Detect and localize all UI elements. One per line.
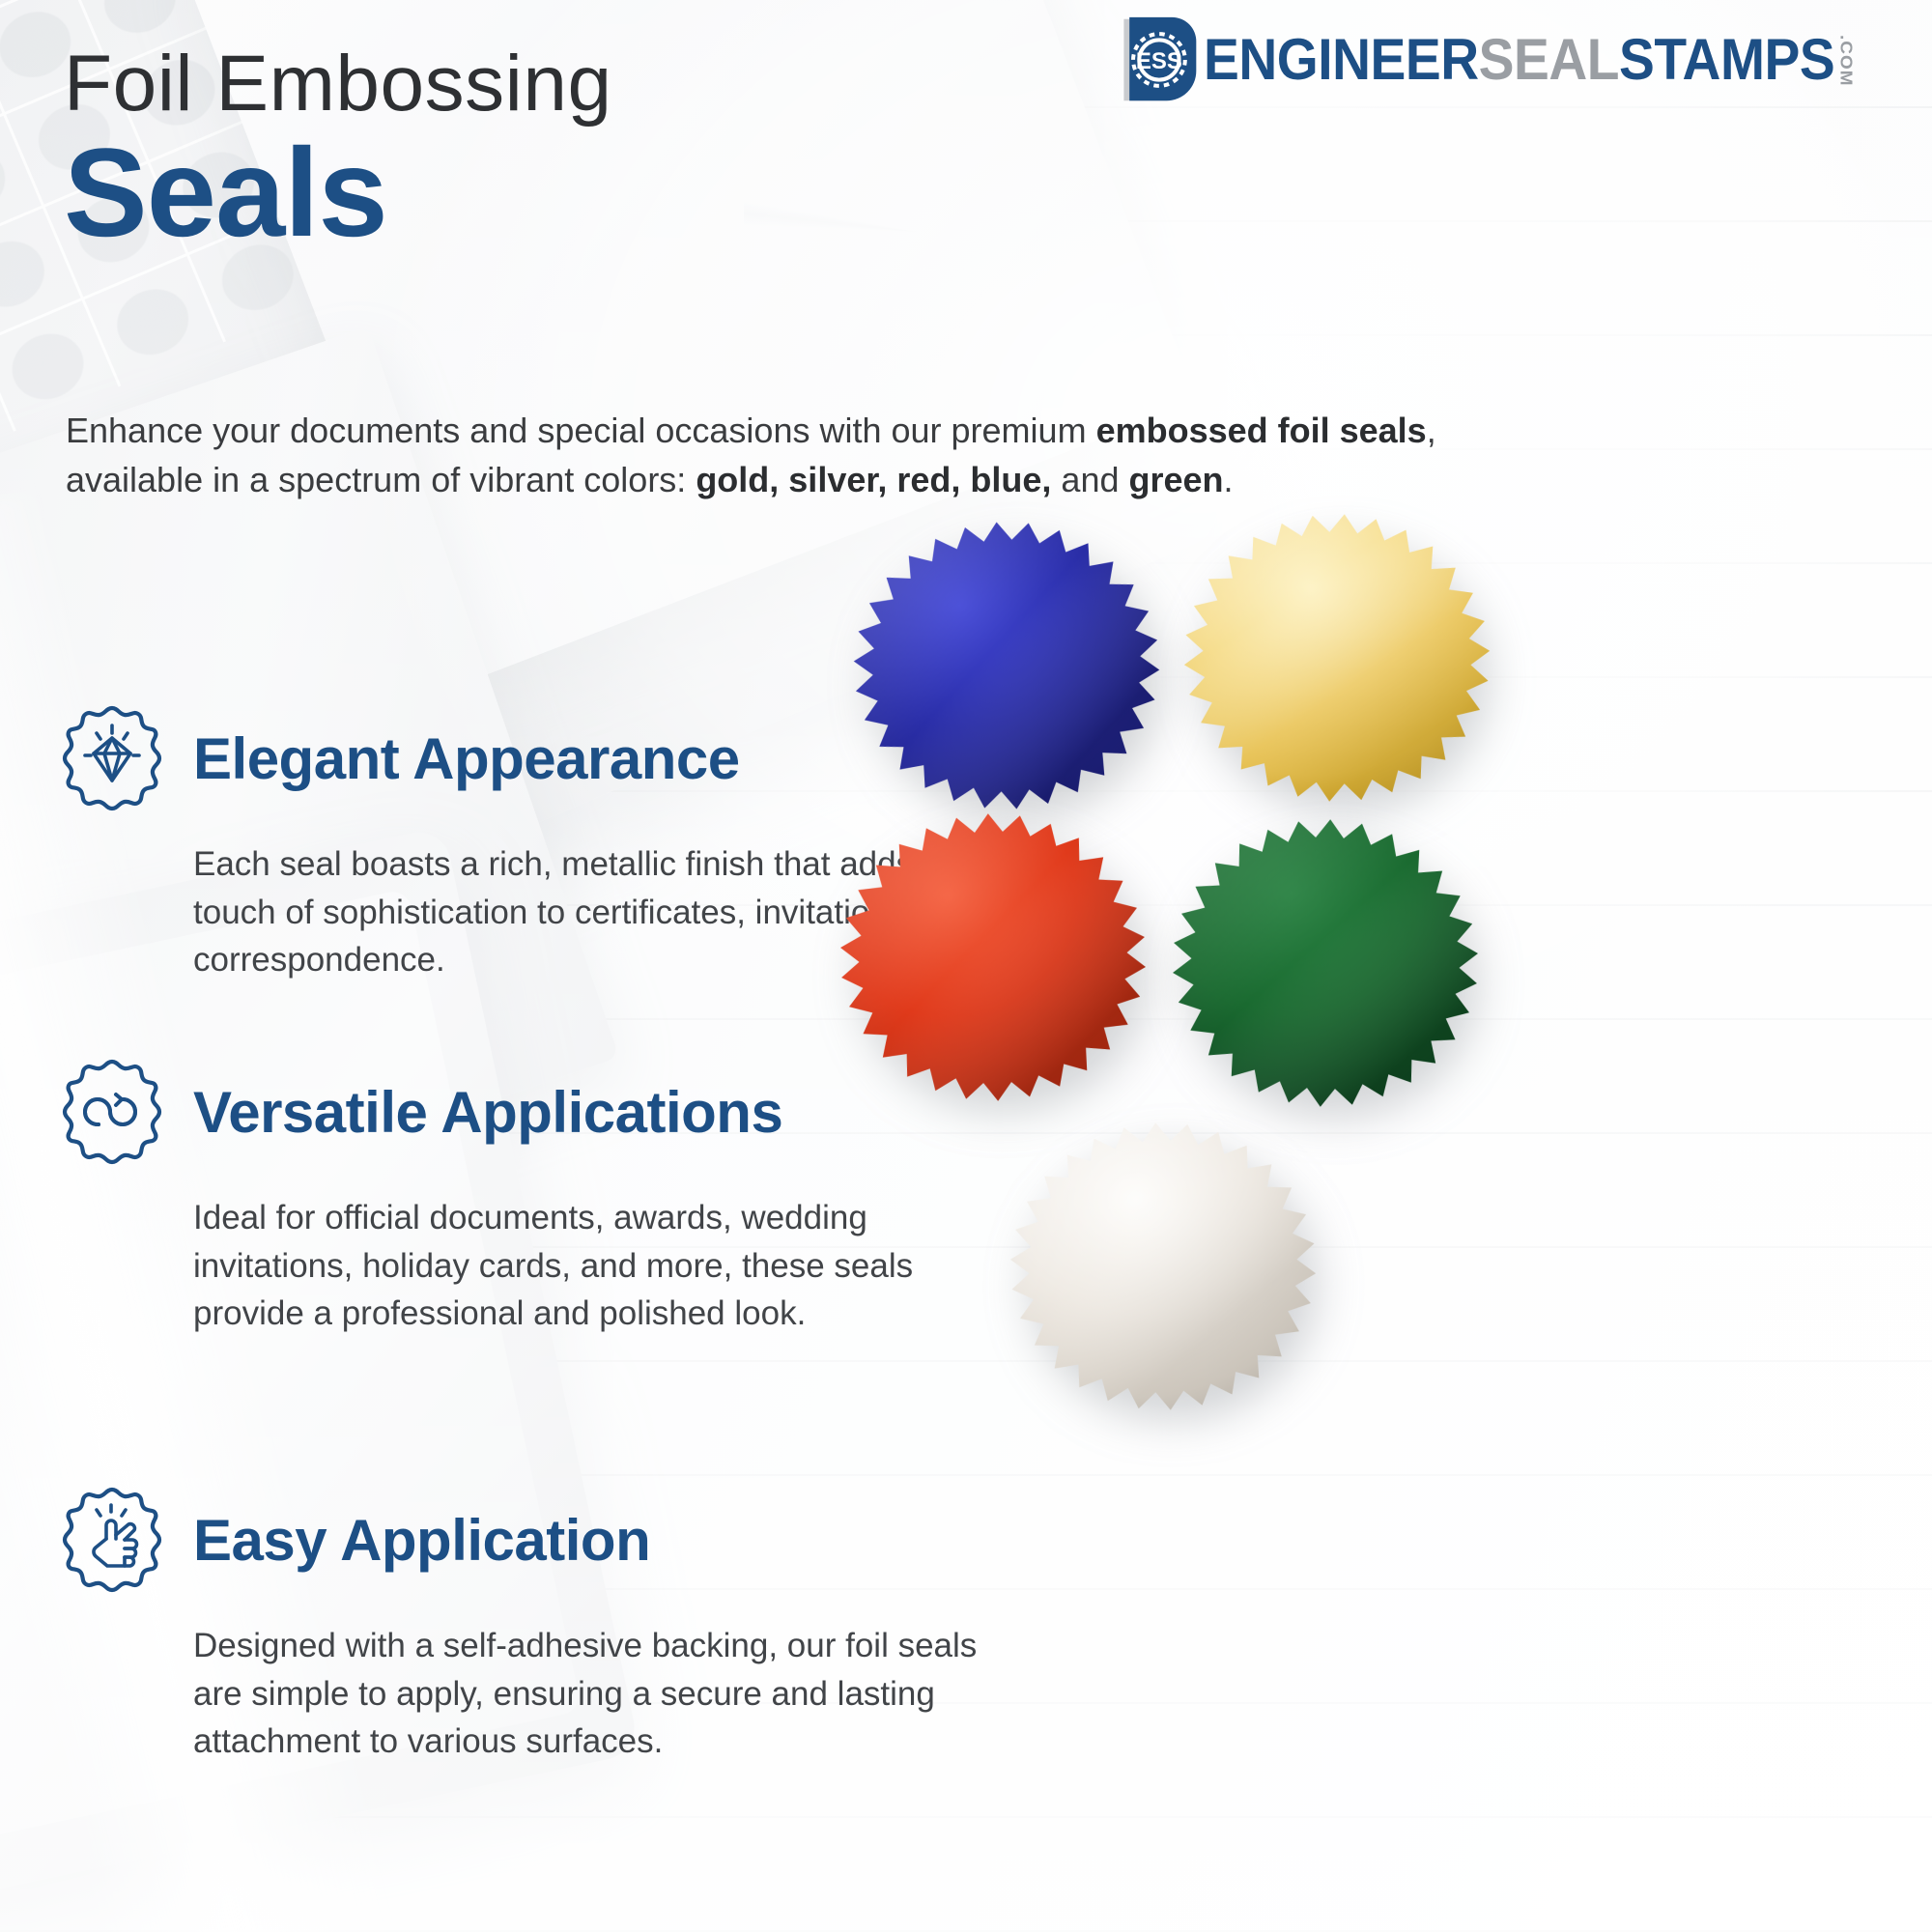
intro-bold-2: gold, silver, red, blue, <box>696 460 1051 499</box>
seal-blue-shape <box>826 495 1187 837</box>
logo-wordmark: ENGINEERSEALSTAMPS.COM <box>1204 31 1854 89</box>
title-line-2: Seals <box>64 129 612 255</box>
logo-tld: .COM <box>1837 35 1854 87</box>
feature-body: Designed with a self-adhesive backing, o… <box>193 1622 1020 1766</box>
content-layer: ESS ENGINEERSEALSTAMPS.COM Foil Embossin… <box>0 0 1932 1932</box>
seal-green-shape <box>1150 798 1500 1128</box>
infographic-page: ESS ENGINEERSEALSTAMPS.COM Foil Embossin… <box>0 0 1932 1932</box>
tap-hand-icon <box>54 1483 170 1599</box>
page-title: Foil Embossing Seals <box>64 43 612 255</box>
feature-title: Easy Application <box>193 1512 650 1570</box>
logo-word-engineer: ENGINEER <box>1204 31 1479 89</box>
feature-easy-application: Easy Application Designed with a self-ad… <box>54 1483 1020 1766</box>
feature-body: Ideal for official documents, awards, we… <box>193 1194 1020 1338</box>
feature-header: Easy Application <box>54 1483 1020 1599</box>
seal-gold-shape <box>1159 490 1516 826</box>
infinity-loop-icon <box>54 1055 170 1171</box>
seal-blue <box>826 495 1187 837</box>
feature-title: Elegant Appearance <box>193 730 740 788</box>
title-line-1: Foil Embossing <box>64 43 612 126</box>
seal-silver <box>985 1098 1342 1435</box>
feature-title: Versatile Applications <box>193 1084 782 1142</box>
seal-green <box>1150 798 1500 1128</box>
seal-gold <box>1159 490 1516 826</box>
intro-bold-1: embossed foil seals <box>1096 411 1427 450</box>
logo-word-stamps: STAMPS <box>1619 31 1834 89</box>
seal-red <box>817 792 1168 1122</box>
brand-logo[interactable]: ESS ENGINEERSEALSTAMPS.COM <box>1111 14 1911 106</box>
diamond-icon <box>54 701 170 817</box>
logo-word-seal: SEAL <box>1479 31 1619 89</box>
intro-paragraph: Enhance your documents and special occas… <box>66 406 1437 504</box>
intro-part-3: and <box>1051 460 1128 499</box>
seal-silver-shape <box>985 1098 1342 1435</box>
seal-red-shape <box>817 792 1168 1122</box>
intro-part-1: Enhance your documents and special occas… <box>66 411 1096 450</box>
svg-text:ESS: ESS <box>1136 48 1182 74</box>
ess-gear-shield-icon: ESS <box>1111 14 1204 106</box>
